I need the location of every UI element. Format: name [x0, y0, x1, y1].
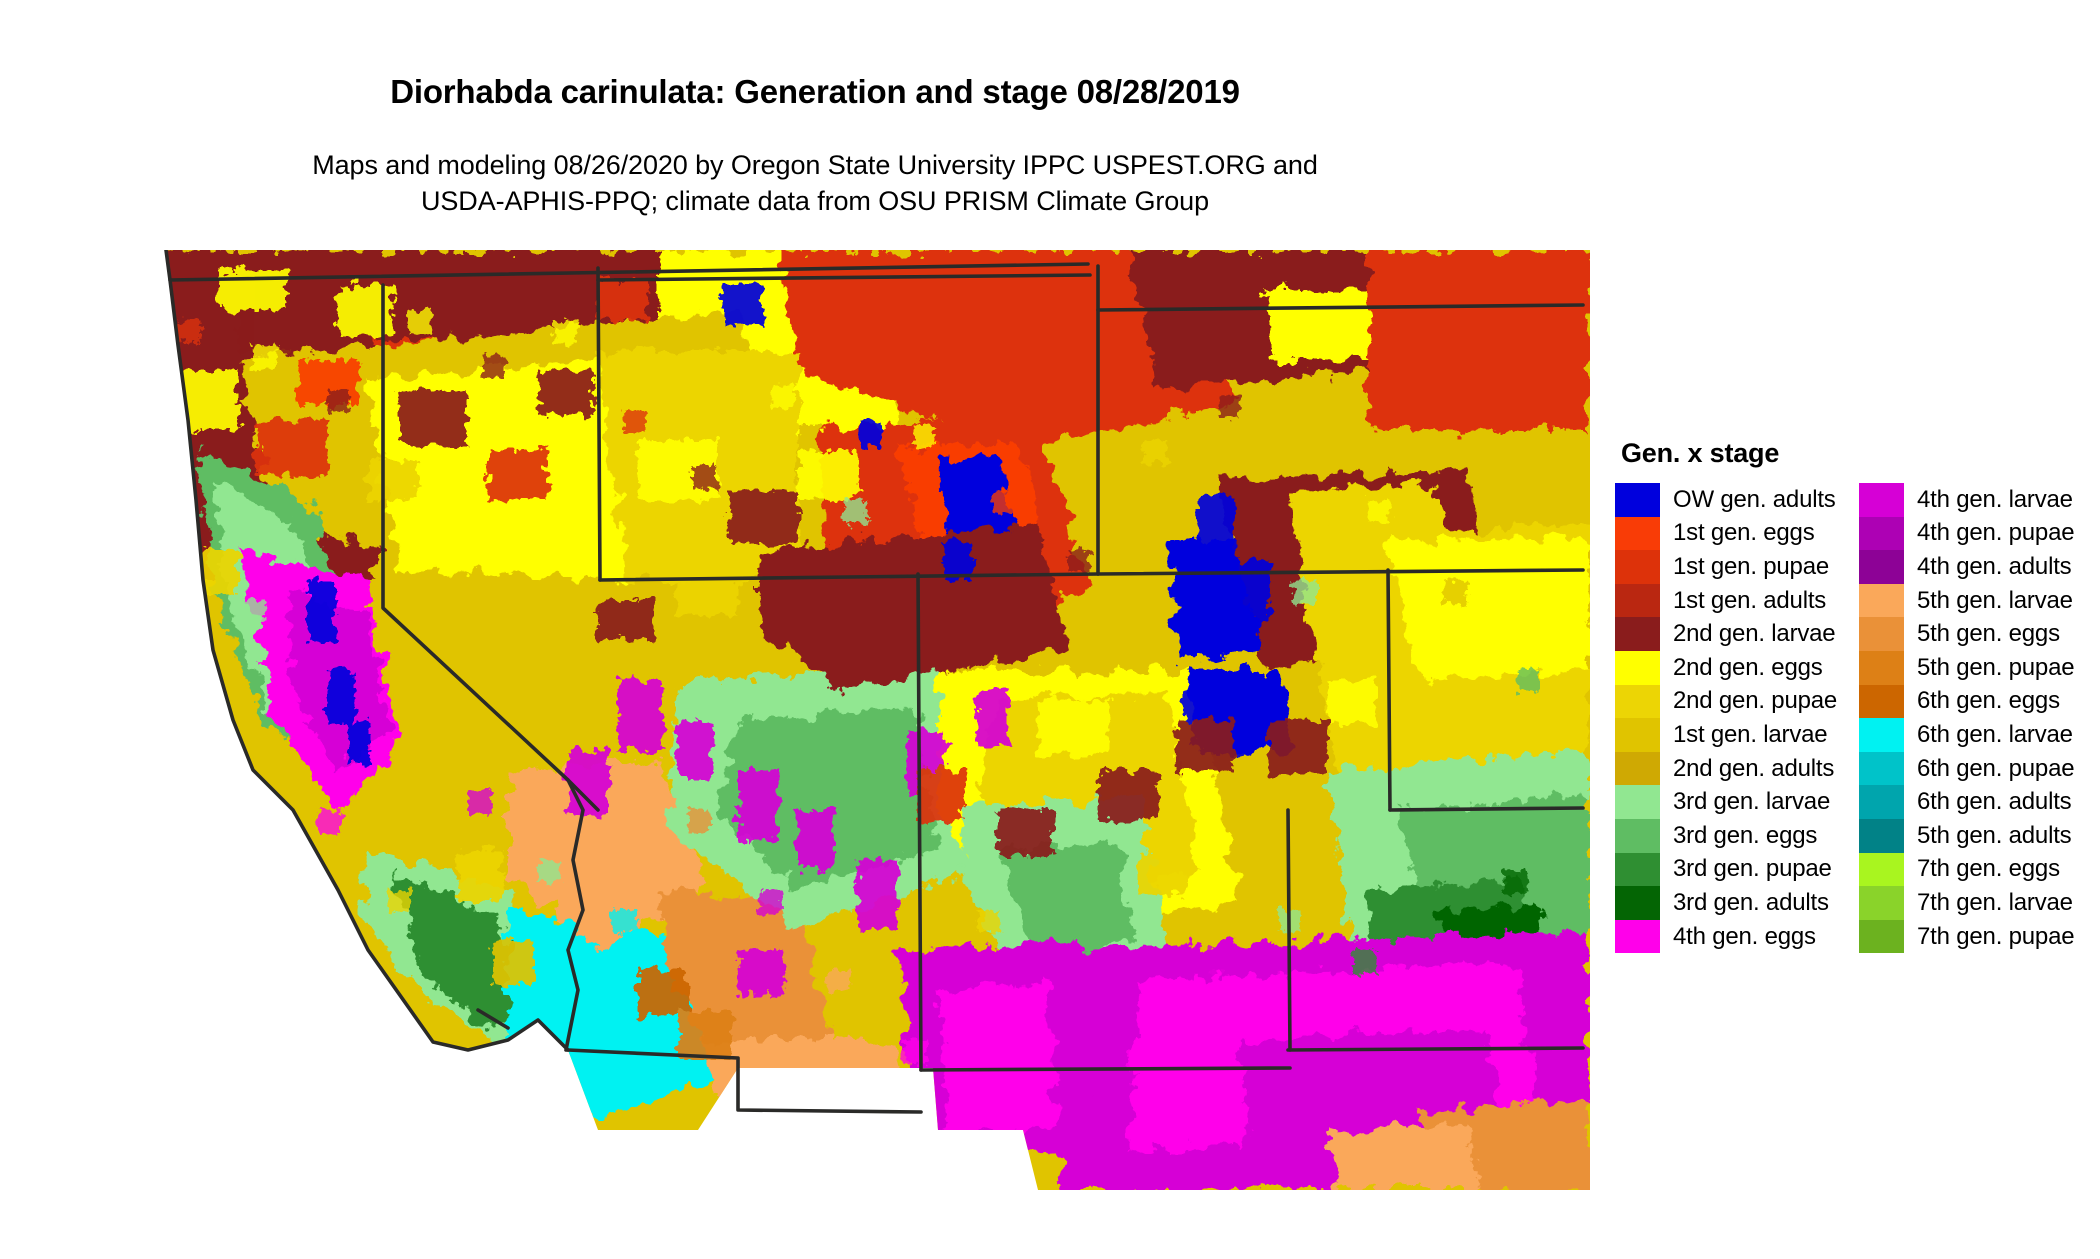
legend-item-label: 6th gen. eggs — [1917, 687, 2060, 715]
legend-item: 6th gen. pupae — [1859, 752, 2074, 786]
legend-item-label: 4th gen. pupae — [1917, 519, 2074, 547]
legend-item-label: 2nd gen. eggs — [1673, 654, 1823, 682]
subtitle-block: Maps and modeling 08/26/2020 by Oregon S… — [0, 148, 1630, 219]
legend-item: 7th gen. eggs — [1859, 853, 2074, 887]
legend-color-swatch — [1615, 517, 1660, 551]
legend-item: 6th gen. adults — [1859, 785, 2074, 819]
legend-item-label: 1st gen. larvae — [1673, 721, 1827, 749]
legend-item-label: 2nd gen. larvae — [1673, 620, 1835, 648]
legend-item-label: 5th gen. pupae — [1917, 654, 2074, 682]
legend: Gen. x stage OW gen. adults1st gen. eggs… — [1615, 438, 2085, 953]
legend-item-label: 2nd gen. pupae — [1673, 687, 1837, 715]
legend-color-swatch — [1859, 752, 1904, 786]
legend-item: 6th gen. eggs — [1859, 685, 2074, 719]
legend-color-swatch — [1615, 819, 1660, 853]
legend-color-swatch — [1615, 853, 1660, 887]
legend-color-swatch — [1859, 685, 1904, 719]
legend-item: 1st gen. adults — [1615, 584, 1837, 618]
legend-item: OW gen. adults — [1615, 483, 1837, 517]
legend-color-swatch — [1859, 819, 1904, 853]
legend-item: 5th gen. pupae — [1859, 651, 2074, 685]
legend-item: 2nd gen. pupae — [1615, 685, 1837, 719]
legend-item-label: 6th gen. adults — [1917, 788, 2071, 816]
legend-item: 1st gen. pupae — [1615, 550, 1837, 584]
legend-color-swatch — [1615, 886, 1660, 920]
legend-item: 2nd gen. larvae — [1615, 617, 1837, 651]
legend-item: 4th gen. larvae — [1859, 483, 2074, 517]
legend-color-swatch — [1859, 483, 1904, 517]
legend-item-label: 6th gen. larvae — [1917, 721, 2073, 749]
legend-color-swatch — [1859, 651, 1904, 685]
legend-item-label: 3rd gen. eggs — [1673, 822, 1817, 850]
page-title: Diorhabda carinulata: Generation and sta… — [0, 74, 1630, 110]
legend-color-swatch — [1859, 584, 1904, 618]
legend-item-label: 4th gen. adults — [1917, 553, 2071, 581]
legend-item: 1st gen. larvae — [1615, 718, 1837, 752]
legend-item-label: 3rd gen. larvae — [1673, 788, 1830, 816]
legend-item: 3rd gen. pupae — [1615, 853, 1837, 887]
legend-item: 7th gen. pupae — [1859, 920, 2074, 954]
legend-color-swatch — [1615, 483, 1660, 517]
legend-color-swatch — [1615, 785, 1660, 819]
legend-column-left: OW gen. adults1st gen. eggs1st gen. pupa… — [1615, 483, 1837, 953]
legend-item: 1st gen. eggs — [1615, 517, 1837, 551]
legend-color-swatch — [1615, 685, 1660, 719]
legend-color-swatch — [1859, 920, 1904, 954]
legend-item-label: 5th gen. larvae — [1917, 587, 2073, 615]
legend-item-label: 5th gen. adults — [1917, 822, 2071, 850]
legend-color-swatch — [1615, 752, 1660, 786]
legend-columns: OW gen. adults1st gen. eggs1st gen. pupa… — [1615, 483, 2085, 953]
legend-item-label: 1st gen. pupae — [1673, 553, 1829, 581]
legend-item-label: 3rd gen. pupae — [1673, 855, 1832, 883]
legend-item: 4th gen. pupae — [1859, 517, 2074, 551]
legend-item-label: 5th gen. eggs — [1917, 620, 2060, 648]
legend-item-label: 1st gen. adults — [1673, 587, 1826, 615]
legend-title: Gen. x stage — [1621, 438, 2085, 469]
legend-item: 5th gen. eggs — [1859, 617, 2074, 651]
subtitle-line-2: USDA-APHIS-PPQ; climate data from OSU PR… — [0, 184, 1630, 220]
subtitle-line-1: Maps and modeling 08/26/2020 by Oregon S… — [0, 148, 1630, 184]
legend-item-label: 1st gen. eggs — [1673, 519, 1815, 547]
legend-color-swatch — [1615, 550, 1660, 584]
legend-color-swatch — [1615, 718, 1660, 752]
legend-color-swatch — [1859, 718, 1904, 752]
legend-item-label: 4th gen. eggs — [1673, 923, 1816, 951]
legend-item: 6th gen. larvae — [1859, 718, 2074, 752]
legend-item-label: 2nd gen. adults — [1673, 755, 1834, 783]
legend-item: 5th gen. larvae — [1859, 584, 2074, 618]
legend-item-label: 4th gen. larvae — [1917, 486, 2073, 514]
legend-item: 3rd gen. larvae — [1615, 785, 1837, 819]
legend-item: 3rd gen. eggs — [1615, 819, 1837, 853]
legend-color-swatch — [1859, 517, 1904, 551]
legend-color-swatch — [1859, 550, 1904, 584]
legend-item: 5th gen. adults — [1859, 819, 2074, 853]
legend-color-swatch — [1615, 617, 1660, 651]
legend-item-label: OW gen. adults — [1673, 486, 1836, 514]
map-svg — [38, 250, 1590, 1190]
legend-color-swatch — [1859, 617, 1904, 651]
legend-item-label: 7th gen. larvae — [1917, 889, 2073, 917]
legend-color-swatch — [1615, 920, 1660, 954]
legend-color-swatch — [1859, 886, 1904, 920]
legend-item: 3rd gen. adults — [1615, 886, 1837, 920]
legend-item: 2nd gen. eggs — [1615, 651, 1837, 685]
legend-item-label: 3rd gen. adults — [1673, 889, 1829, 917]
legend-color-swatch — [1859, 785, 1904, 819]
legend-color-swatch — [1859, 853, 1904, 887]
legend-item-label: 7th gen. pupae — [1917, 923, 2074, 951]
map-raster[interactable] — [38, 250, 1590, 1190]
legend-column-right: 4th gen. larvae4th gen. pupae4th gen. ad… — [1859, 483, 2074, 953]
legend-item: 7th gen. larvae — [1859, 886, 2074, 920]
title-block: Diorhabda carinulata: Generation and sta… — [0, 74, 1630, 110]
legend-item: 4th gen. eggs — [1615, 920, 1837, 954]
legend-item-label: 6th gen. pupae — [1917, 755, 2074, 783]
legend-color-swatch — [1615, 651, 1660, 685]
legend-item: 2nd gen. adults — [1615, 752, 1837, 786]
legend-item: 4th gen. adults — [1859, 550, 2074, 584]
legend-item-label: 7th gen. eggs — [1917, 855, 2060, 883]
legend-color-swatch — [1615, 584, 1660, 618]
